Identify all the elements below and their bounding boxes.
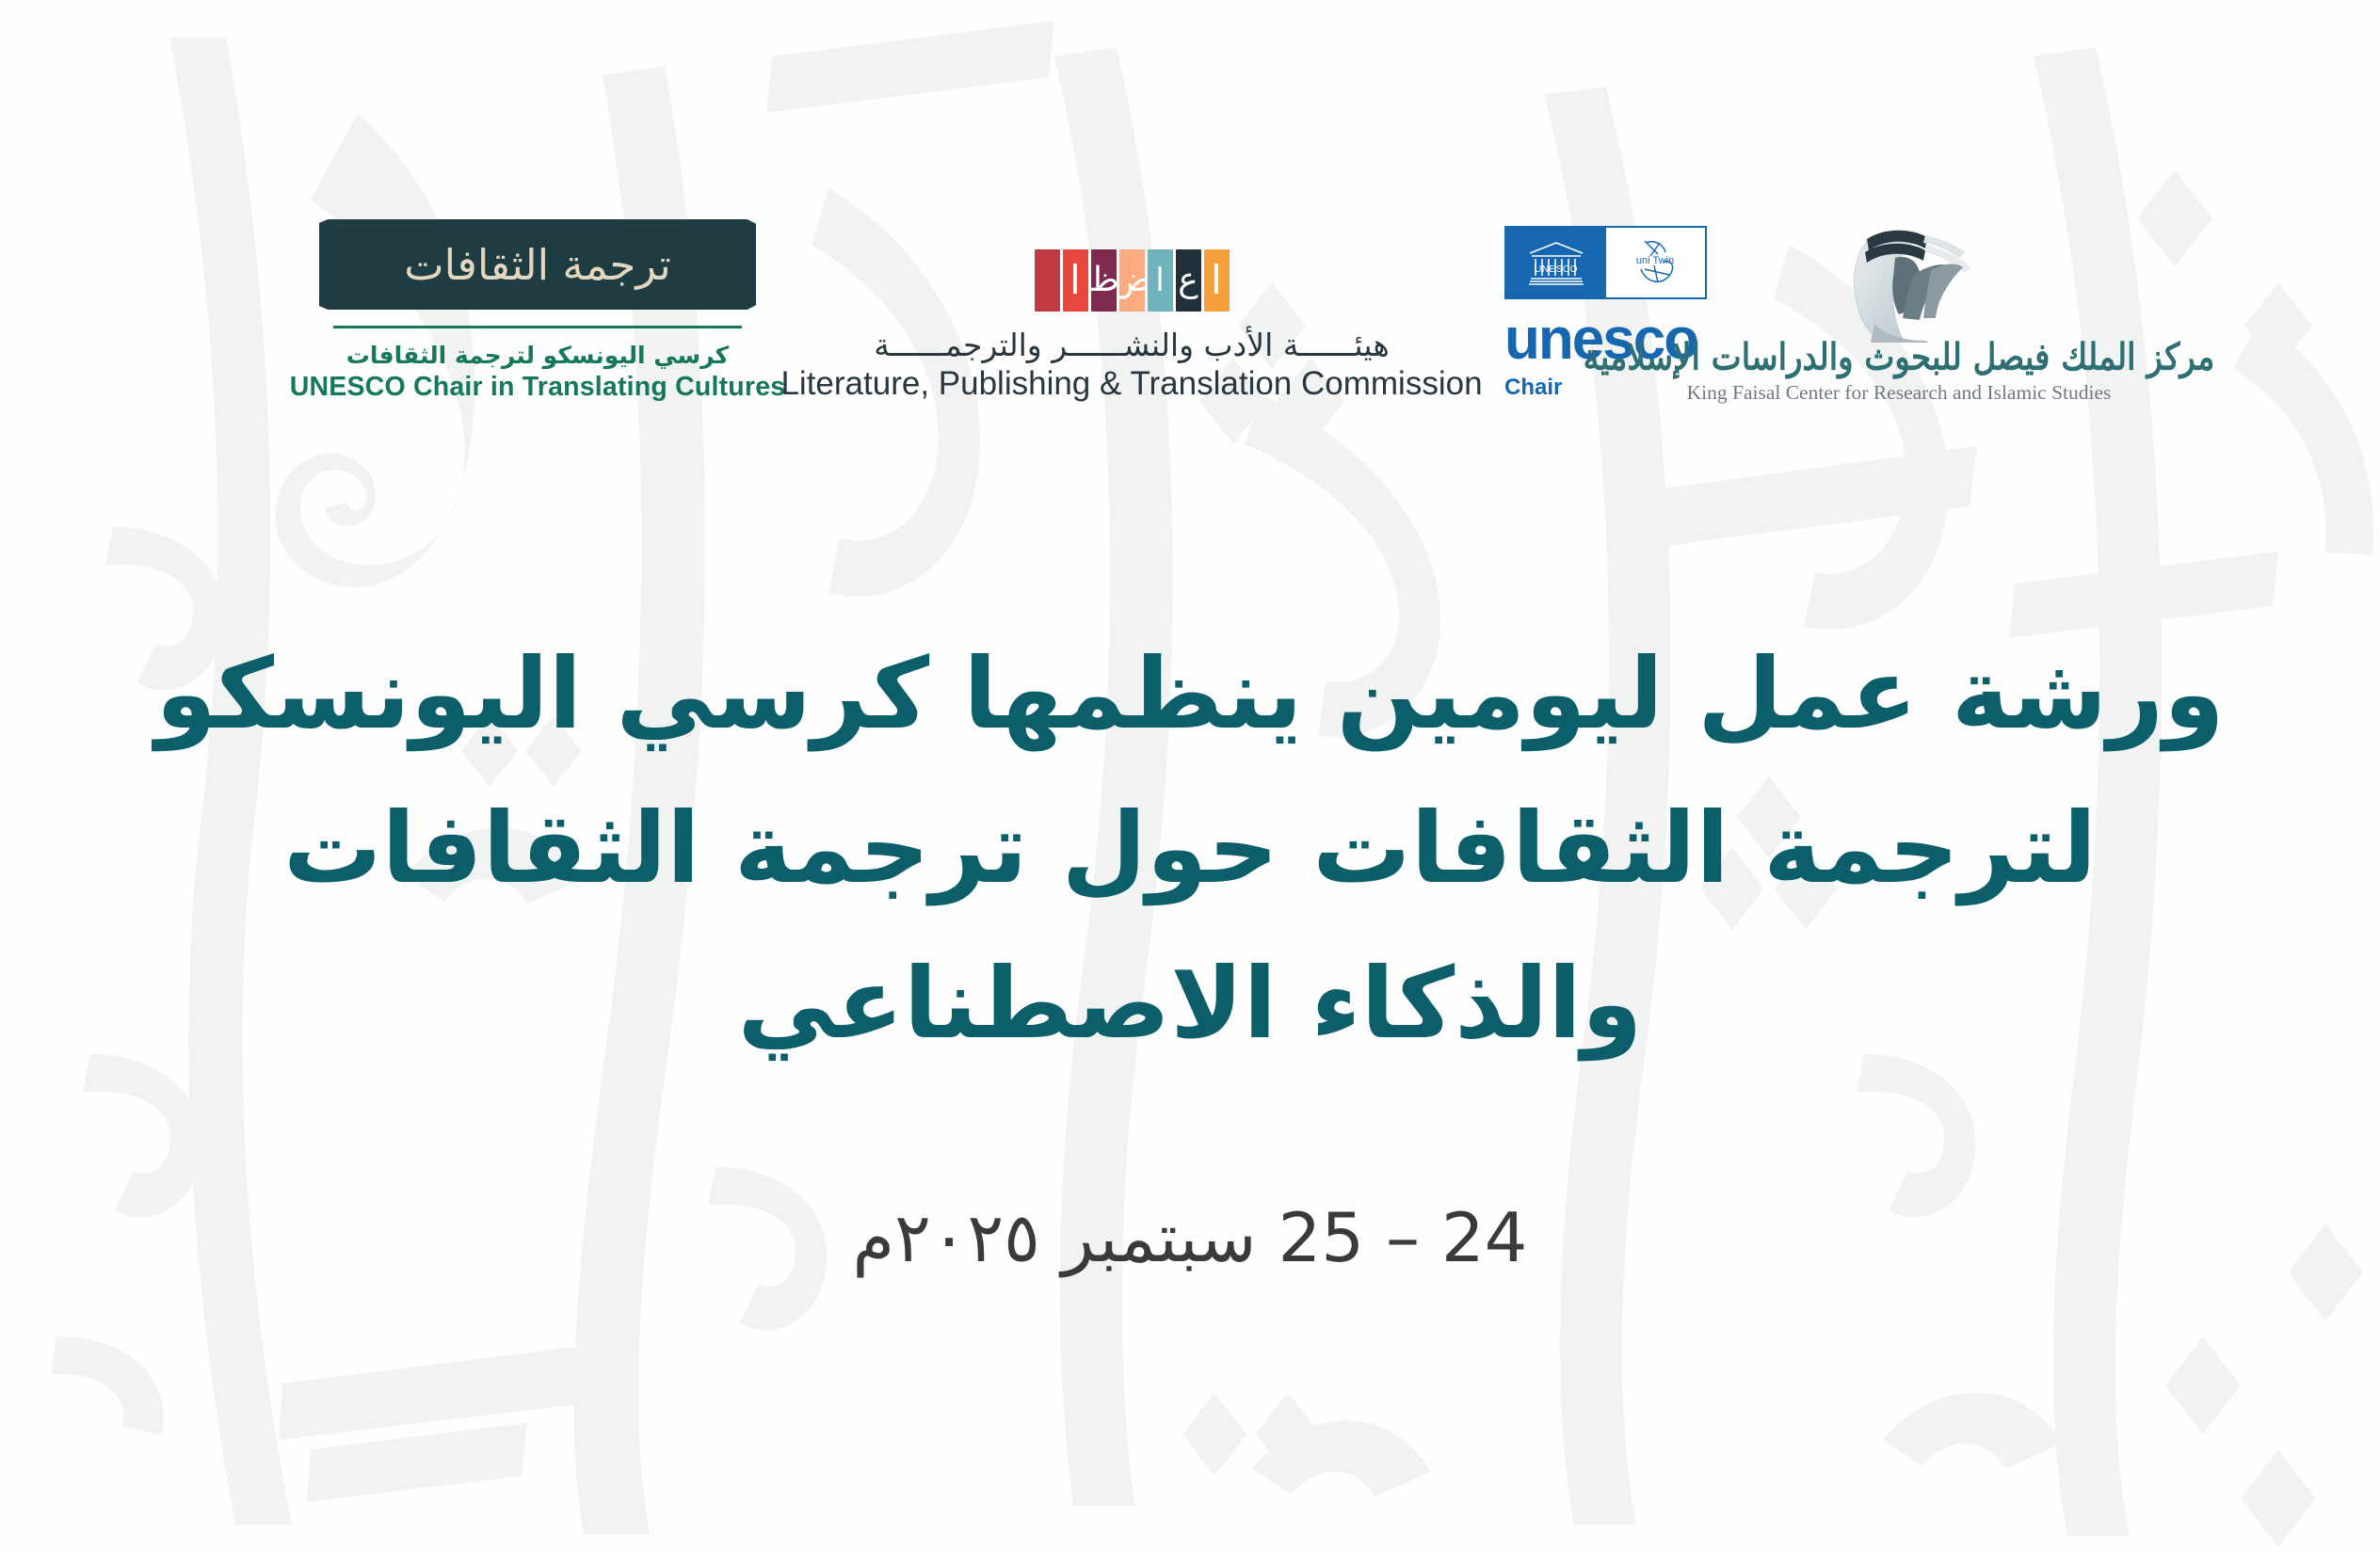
emblem-bar-6: ع xyxy=(1176,249,1201,312)
workshop-headline: ورشة عمل ليومين ينظمها كرسي اليونسكو لتر… xyxy=(0,616,2380,1080)
feather-glyph-icon-2: ا xyxy=(1211,261,1222,300)
headline-line-1: ورشة عمل ليومين ينظمها كرسي اليونسكو xyxy=(0,616,2380,771)
unesco-chair-logo: UNESCO uni Twin xyxy=(1504,226,1721,407)
unesco-chair-subtitle: Chair xyxy=(1504,375,1562,401)
commission-colored-bars-emblem: ا ظ ض ا ع ا xyxy=(1035,249,1230,312)
king-faisal-center-arabic-name: مركز الملك فيصل للبحوث والدراسات الإسلام… xyxy=(1584,336,2215,379)
translating-cultures-arabic-wordmark: ترجمة الثقافات xyxy=(404,240,670,290)
event-date: 24 – 25 سبتمبر ٢٠٢٥م xyxy=(0,1197,2380,1278)
emblem-bar-3: ظ xyxy=(1091,249,1117,312)
literature-publishing-translation-commission-logo: ا ظ ض ا ع ا هيئــــــة الأدب والنشــــ xyxy=(783,249,1480,407)
pen-nib-icon: ا xyxy=(1155,264,1164,296)
svg-text:uni Twin: uni Twin xyxy=(1636,255,1674,266)
poster-canvas: ترجمة الثقافات كرسي اليونسكو لترجمة الثق… xyxy=(0,0,2380,1552)
translating-cultures-english-name: UNESCO Chair in Translating Cultures xyxy=(290,372,786,403)
dad-glyph-icon: ض xyxy=(1119,264,1145,297)
unesco-temple-emblem: UNESCO xyxy=(1506,228,1606,297)
commission-arabic-name: هيئــــــة الأدب والنشــــــر والترجمـــ… xyxy=(874,327,1390,363)
svg-text:UNESCO: UNESCO xyxy=(1535,264,1578,275)
unesco-chair-translating-cultures-logo: ترجمة الثقافات كرسي اليونسكو لترجمة الثق… xyxy=(316,219,759,407)
partner-logos-strip: ترجمة الثقافات كرسي اليونسكو لترجمة الثق… xyxy=(0,209,2380,407)
translating-cultures-arabic-name: كرسي اليونسكو لترجمة الثقافات xyxy=(346,342,729,369)
emblem-bar-5: ا xyxy=(1148,249,1173,312)
king-faisal-center-english-name: King Faisal Center for Research and Isla… xyxy=(1687,381,2112,405)
feather-glyph-icon: ا xyxy=(1069,261,1081,300)
king-faisal-center-logo: مركز الملك فيصل للبحوث والدراسات الإسلام… xyxy=(1734,220,2064,407)
emblem-bar-4: ض xyxy=(1119,249,1145,312)
translating-cultures-wordmark-box: ترجمة الثقافات xyxy=(319,219,756,310)
headline-line-3: والذكاء الاصطناعي xyxy=(0,926,2380,1080)
zah-glyph-icon: ظ xyxy=(1091,264,1117,297)
ain-glyph-icon: ع xyxy=(1178,264,1198,297)
unesco-unitwin-emblem: UNESCO uni Twin xyxy=(1504,226,1707,299)
unitwin-emblem: uni Twin xyxy=(1606,228,1706,297)
emblem-bar-1 xyxy=(1035,249,1060,312)
commission-english-name: Literature, Publishing & Translation Com… xyxy=(780,365,1482,403)
king-faisal-portrait-icon xyxy=(1805,220,1993,343)
emblem-bar-7: ا xyxy=(1204,249,1230,312)
divider-rule xyxy=(333,326,742,328)
emblem-bar-2: ا xyxy=(1063,249,1088,312)
headline-line-2: لترجمة الثقافات حول ترجمة الثقافات xyxy=(0,771,2380,925)
